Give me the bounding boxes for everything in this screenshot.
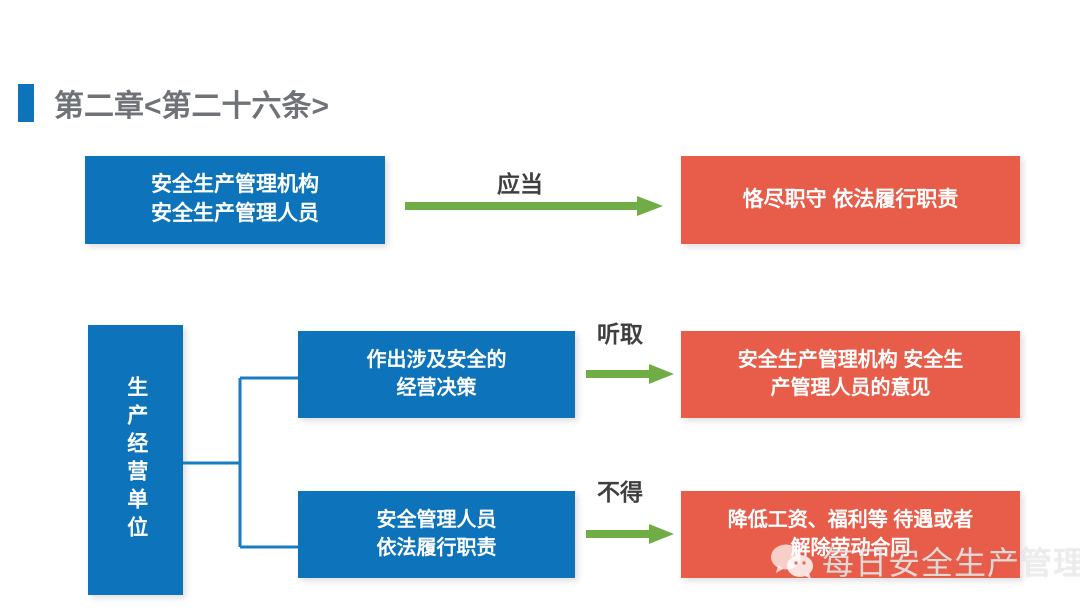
box-line: 安全管理人员 <box>377 507 497 535</box>
box-opinion-of-safety-org[interactable]: 安全生产管理机构 安全生 产管理人员的意见 <box>681 331 1020 418</box>
box-line: 恪尽职守 依法履行职责 <box>743 186 959 215</box>
page-title: 第二章<第二十六条> <box>18 82 329 124</box>
title-text: 第二章<第二十六条> <box>54 81 329 125</box>
box-safety-related-decision[interactable]: 作出涉及安全的 经营决策 <box>298 331 575 418</box>
box-duty-diligence[interactable]: 恪尽职守 依法履行职责 <box>681 156 1020 244</box>
arrow-row-1 <box>405 195 663 217</box>
box-line: 解除劳动合同 <box>791 535 911 563</box>
box-line: 产管理人员的意见 <box>771 375 931 403</box>
box-line: 降低工资、福利等 待遇或者 <box>728 507 974 535</box>
box-reduce-wages-terminate[interactable]: 降低工资、福利等 待遇或者 解除劳动合同 <box>681 491 1020 578</box>
arrow-row-2 <box>586 363 674 385</box>
arrow-label-yingdang: 应当 <box>497 165 543 199</box>
box-vertical-label: 生产经营单位 <box>119 376 152 544</box>
box-production-business-unit[interactable]: 生产经营单位 <box>88 325 183 595</box>
title-accent-bar <box>18 84 34 122</box>
slide-canvas: 第二章<第二十六条> 安全生产管理机构 安全生产管理人员 应当 恪尽职守 依法履… <box>0 0 1080 608</box>
box-line: 安全生产管理机构 安全生 <box>738 347 964 375</box>
box-line: 经营决策 <box>397 375 477 403</box>
box-safety-org-personnel[interactable]: 安全生产管理机构 安全生产管理人员 <box>85 156 385 244</box>
bracket-connector <box>183 370 303 555</box>
box-line: 依法履行职责 <box>377 535 497 563</box>
box-line: 作出涉及安全的 <box>367 347 507 375</box>
box-line: 安全生产管理人员 <box>151 200 319 229</box>
arrow-label-bude: 不得 <box>597 473 643 507</box>
arrow-row-3 <box>586 523 674 545</box>
arrow-label-tingqu: 听取 <box>597 315 643 349</box>
box-line: 安全生产管理机构 <box>151 171 319 200</box>
box-safety-personnel-duty[interactable]: 安全管理人员 依法履行职责 <box>298 491 575 578</box>
